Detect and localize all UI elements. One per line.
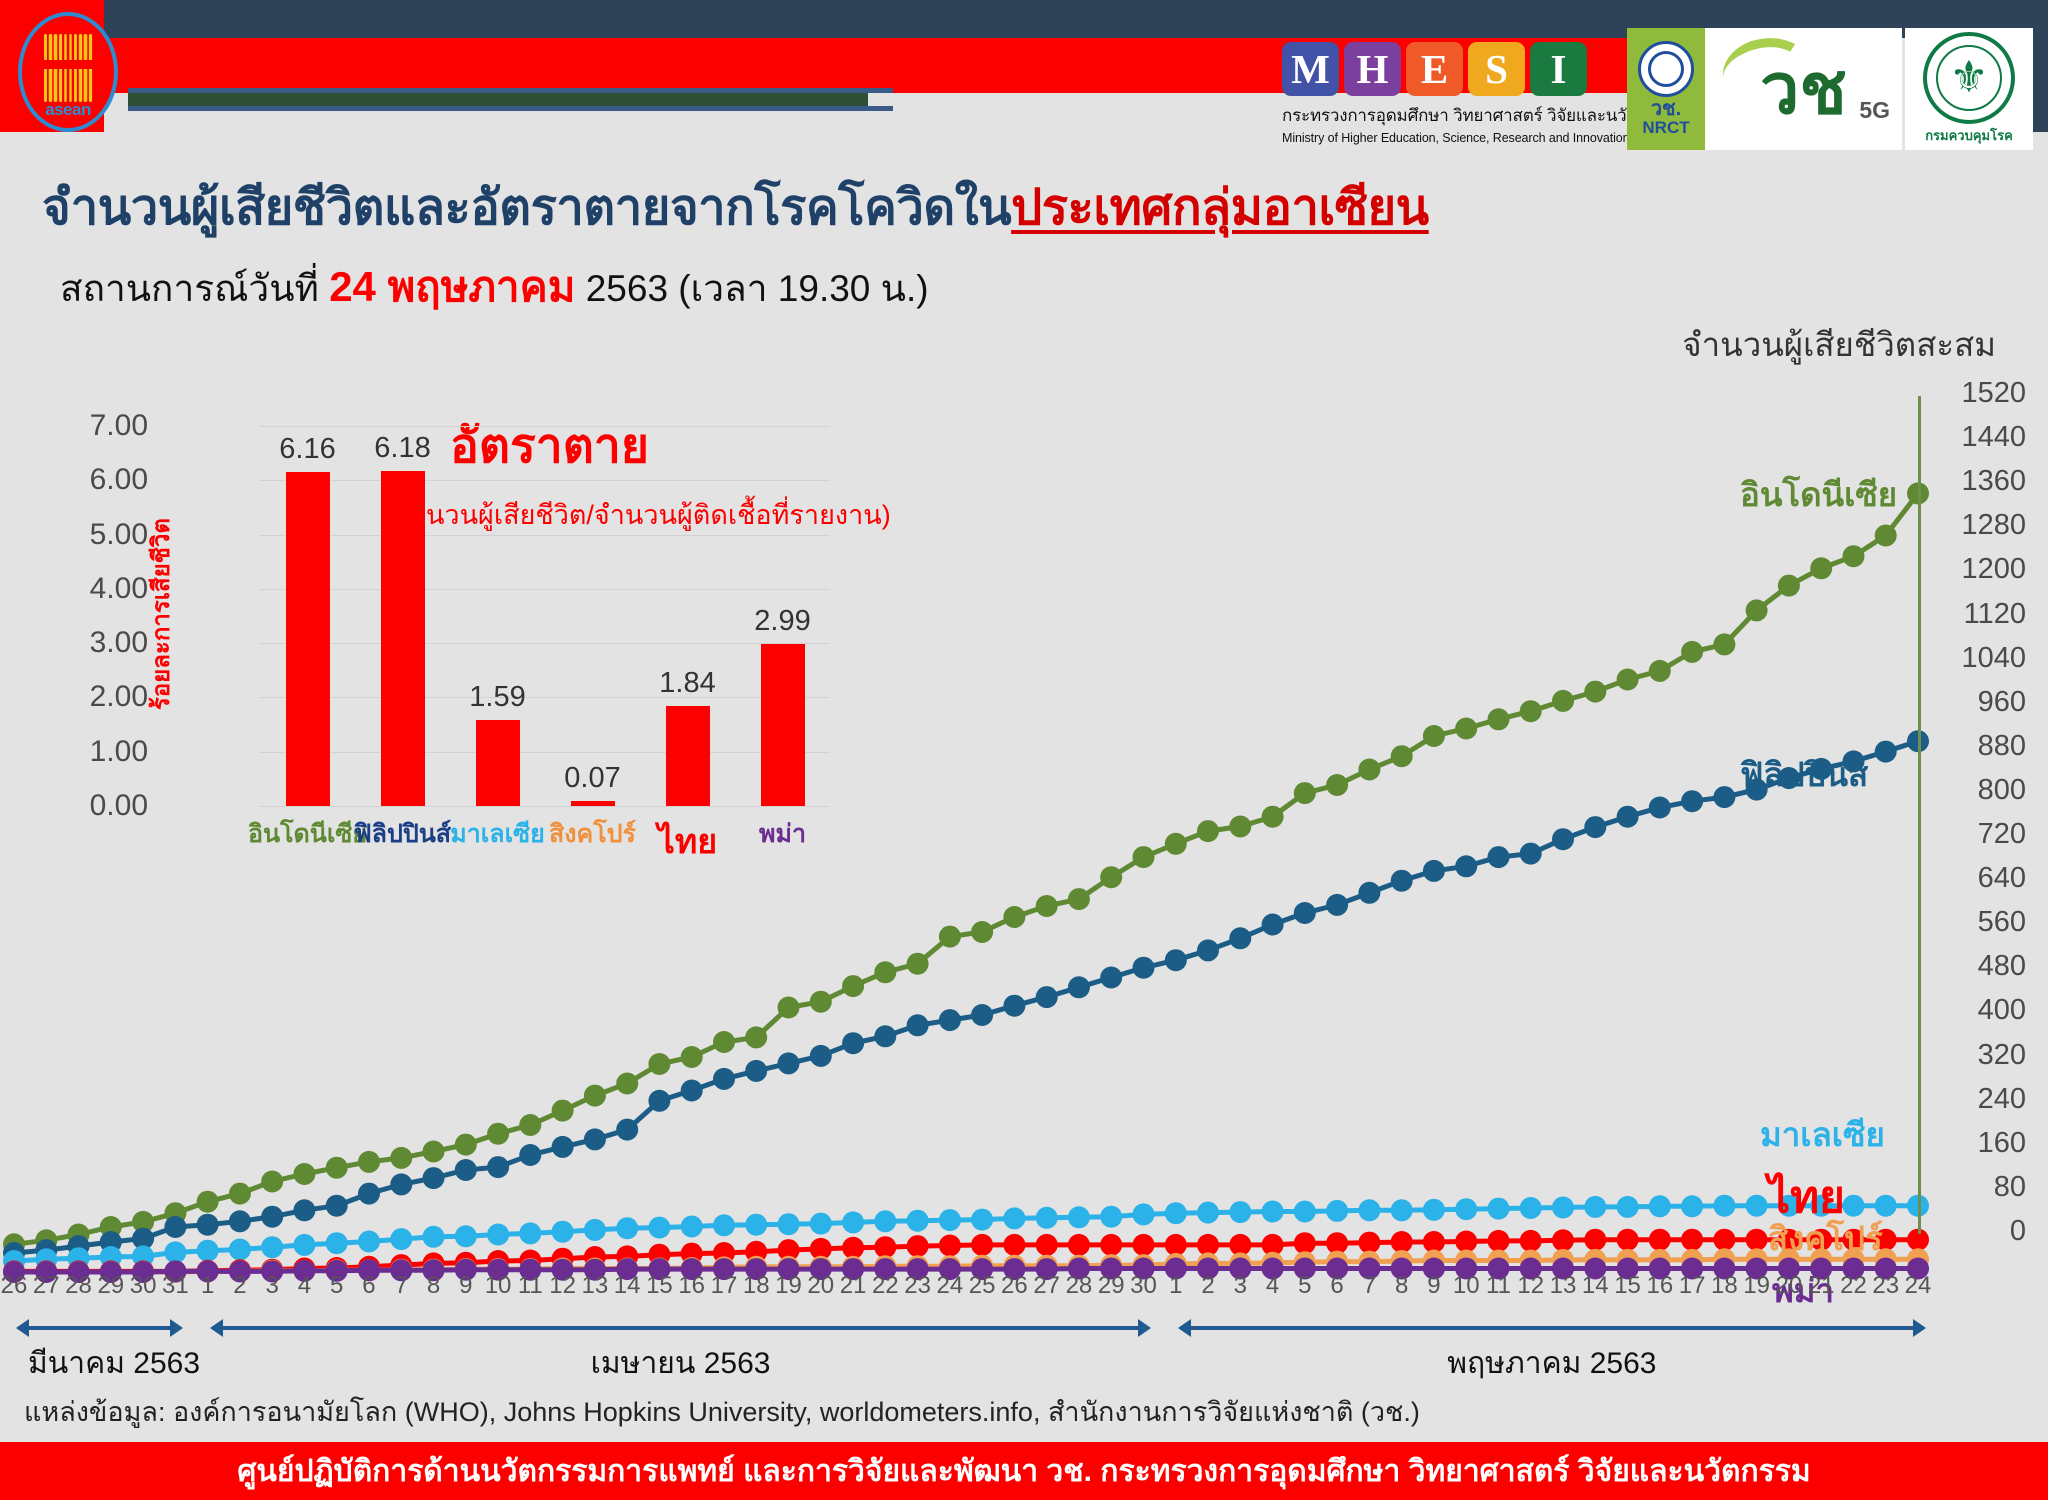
bar-gridline: [260, 426, 830, 427]
data-point: [1003, 906, 1025, 928]
data-point: [1133, 957, 1155, 979]
data-point: [1229, 816, 1251, 838]
y-tick-400: 400: [1978, 994, 2026, 1027]
data-point: [1133, 846, 1155, 868]
data-point: [552, 1136, 574, 1158]
x-tick-55: 20: [1776, 1272, 1803, 1300]
data-point: [1262, 806, 1284, 828]
data-point: [907, 1235, 929, 1257]
bar-column: 1.59: [476, 426, 520, 806]
data-point: [1197, 939, 1219, 961]
data-point: [907, 1014, 929, 1036]
data-point: [197, 1240, 219, 1262]
data-point: [1584, 1196, 1606, 1218]
y-tick-1360: 1360: [1961, 465, 2026, 498]
mhesi-tile-m: M: [1282, 42, 1339, 96]
data-point: [713, 1214, 735, 1236]
data-point: [842, 975, 864, 997]
x-tick-25: 20: [807, 1272, 834, 1300]
moph-thai-label: กรมควบคุมโรค: [1925, 125, 2013, 146]
data-point: [1584, 681, 1606, 703]
x-tick-51: 16: [1646, 1272, 1673, 1300]
data-point: [1003, 1207, 1025, 1229]
bar-plot-area: 6.16อินโดนีเซีย6.18ฟิลิปปินส์1.59มาเลเซี…: [260, 426, 830, 806]
data-point: [1358, 882, 1380, 904]
month-arrow: [1190, 1326, 1914, 1330]
data-point: [1165, 949, 1187, 971]
data-point: [1713, 633, 1735, 655]
data-point: [1391, 1199, 1413, 1221]
x-tick-20: 15: [646, 1272, 673, 1300]
bar-category-อินโดนีเซีย: อินโดนีเซีย: [248, 814, 367, 854]
data-point: [1455, 718, 1477, 740]
y-tick-560: 560: [1978, 906, 2026, 939]
data-point: [1520, 843, 1542, 865]
bar-rect: [286, 472, 330, 806]
data-point: [1488, 846, 1510, 868]
y-tick-1440: 1440: [1961, 421, 2026, 454]
data-point: [1649, 1229, 1671, 1251]
x-tick-54: 19: [1743, 1272, 1770, 1300]
bar-category-ฟิลิปปินส์: ฟิลิปปินส์: [354, 814, 451, 854]
source-line: แหล่งข้อมูล: องค์การอนามัยโลก (WHO), Joh…: [24, 1390, 1420, 1433]
data-point: [1262, 914, 1284, 936]
data-point: [1165, 1234, 1187, 1256]
data-point: [1262, 1201, 1284, 1223]
asean-logo-label: asean: [18, 100, 118, 120]
data-point: [1197, 1202, 1219, 1224]
data-point: [229, 1183, 251, 1205]
data-point: [1100, 1206, 1122, 1228]
x-tick-27: 22: [872, 1272, 899, 1300]
y-tick-720: 720: [1978, 818, 2026, 851]
data-point: [455, 1159, 477, 1181]
data-point: [1810, 557, 1832, 579]
data-point: [778, 1213, 800, 1235]
x-tick-0: 26: [1, 1272, 28, 1300]
bar-rect: [476, 720, 520, 806]
data-point: [1100, 866, 1122, 888]
footer-bar: ศูนย์ปฏิบัติการด้านนวัตกรรมการแพทย์ และก…: [0, 1442, 2048, 1500]
data-point: [874, 1236, 896, 1258]
x-tick-16: 11: [518, 1272, 543, 1300]
x-tick-31: 26: [1001, 1272, 1028, 1300]
data-point: [1875, 525, 1897, 547]
data-point: [584, 1219, 606, 1241]
data-point: [1229, 927, 1251, 949]
bar-y-tick-7.00: 7.00: [90, 409, 148, 443]
data-point: [358, 1231, 380, 1253]
y-tick-800: 800: [1978, 774, 2026, 807]
x-tick-59: 24: [1905, 1272, 1932, 1300]
data-point: [423, 1226, 445, 1248]
data-point: [874, 1025, 896, 1047]
data-point: [681, 1080, 703, 1102]
x-tick-2: 28: [65, 1272, 92, 1300]
x-tick-45: 10: [1453, 1272, 1480, 1300]
nrct-5g-badge: 5G: [1859, 97, 1890, 124]
subtitle-suffix: 2563 (เวลา 19.30 น.): [586, 268, 929, 309]
x-tick-14: 9: [459, 1272, 472, 1300]
data-point: [1552, 1197, 1574, 1219]
data-point: [681, 1216, 703, 1238]
bar-rect: [381, 471, 425, 806]
month-label: เมษายน 2563: [222, 1340, 1140, 1387]
mhesi-letter-tiles: MHESI: [1282, 42, 1612, 96]
data-point: [1326, 774, 1348, 796]
data-point: [1617, 669, 1639, 691]
mhesi-thai-name: กระทรวงการอุดมศึกษา วิทยาศาสตร์ วิจัยและ…: [1282, 102, 1612, 129]
bar-category-มาเลเซีย: มาเลเซีย: [450, 814, 545, 854]
data-point: [907, 1210, 929, 1232]
data-point: [1649, 660, 1671, 682]
data-point: [326, 1195, 348, 1217]
data-point: [1713, 786, 1735, 808]
bar-column: 2.99: [761, 426, 805, 806]
data-point: [1552, 828, 1574, 850]
data-point: [1294, 1232, 1316, 1254]
data-point: [1423, 1199, 1445, 1221]
data-point: [229, 1210, 251, 1232]
data-point: [229, 1239, 251, 1261]
x-tick-32: 27: [1033, 1272, 1060, 1300]
data-point: [326, 1157, 348, 1179]
x-tick-21: 16: [678, 1272, 705, 1300]
data-point: [1133, 1234, 1155, 1256]
bar-y-tick-4.00: 4.00: [90, 572, 148, 606]
data-point: [939, 1009, 961, 1031]
data-point: [390, 1173, 412, 1195]
x-tick-37: 2: [1201, 1272, 1214, 1300]
bar-gridline: [260, 480, 830, 481]
bar-rect: [761, 644, 805, 806]
data-point: [1003, 995, 1025, 1017]
page-title-prefix: จำนวนผู้เสียชีวิตและอัตราตายจากโรคโควิดใ…: [42, 181, 1011, 235]
mhesi-tile-s: S: [1468, 42, 1525, 96]
data-point: [616, 1073, 638, 1095]
subtitle-prefix: สถานการณ์วันที่: [60, 268, 319, 309]
nrct-logo: วช. NRCT วช 5G: [1627, 28, 1902, 150]
data-point: [1133, 1203, 1155, 1225]
data-point: [1713, 1229, 1735, 1251]
x-tick-53: 18: [1711, 1272, 1738, 1300]
x-tick-56: 21: [1808, 1272, 1835, 1300]
month-arrow: [222, 1326, 1140, 1330]
bar-gridline: [260, 589, 830, 590]
data-point: [1649, 797, 1671, 819]
y-tick-320: 320: [1978, 1039, 2026, 1072]
data-point: [261, 1236, 283, 1258]
header-blue-bar-bottom: [128, 106, 893, 111]
data-point: [1294, 1201, 1316, 1223]
month-label: พฤษภาคม 2563: [1190, 1340, 1914, 1387]
dashboard-page: asean MHESI กระทรวงการอุดมศึกษา วิทยาศาส…: [0, 0, 2048, 1500]
x-tick-12: 7: [395, 1272, 408, 1300]
data-point: [1036, 1234, 1058, 1256]
data-point: [487, 1156, 509, 1178]
data-point: [810, 991, 832, 1013]
data-point: [1423, 860, 1445, 882]
data-point: [939, 1235, 961, 1257]
x-tick-47: 12: [1517, 1272, 1544, 1300]
y-tick-1040: 1040: [1961, 642, 2026, 675]
data-point: [326, 1232, 348, 1254]
x-tick-10: 5: [330, 1272, 343, 1300]
x-tick-41: 6: [1330, 1272, 1343, 1300]
asean-band: [38, 60, 98, 69]
x-tick-34: 29: [1098, 1272, 1125, 1300]
data-point: [584, 1128, 606, 1150]
moph-seal-icon: ⚜: [1923, 32, 2015, 124]
data-point: [1875, 741, 1897, 763]
data-point: [197, 1191, 219, 1213]
data-point: [1778, 575, 1800, 597]
data-point: [1391, 745, 1413, 767]
bar-column: 6.16: [286, 426, 330, 806]
data-point: [487, 1224, 509, 1246]
data-point: [519, 1222, 541, 1244]
data-point: [907, 953, 929, 975]
mhesi-tile-e: E: [1406, 42, 1463, 96]
bar-rect: [571, 801, 615, 806]
data-point: [1165, 833, 1187, 855]
data-point: [1681, 641, 1703, 663]
data-point: [745, 1026, 767, 1048]
x-tick-4: 30: [130, 1272, 157, 1300]
data-point: [971, 1234, 993, 1256]
data-point: [1294, 782, 1316, 804]
x-tick-11: 6: [362, 1272, 375, 1300]
data-point: [616, 1119, 638, 1141]
x-tick-8: 3: [265, 1272, 278, 1300]
x-tick-1: 27: [33, 1272, 60, 1300]
data-point: [1100, 1234, 1122, 1256]
x-tick-30: 25: [969, 1272, 996, 1300]
data-point: [810, 1045, 832, 1067]
data-point: [1713, 1195, 1735, 1217]
data-point: [1455, 1198, 1477, 1220]
data-point: [1294, 902, 1316, 924]
bar-category-ไทย: ไทย: [658, 814, 717, 868]
series-label-สิงคโปร์: สิงคโปร์: [1768, 1212, 1883, 1265]
bar-column: 1.84: [666, 426, 710, 806]
asean-logo-icon: asean: [18, 12, 118, 132]
data-point: [1649, 1195, 1671, 1217]
data-point: [842, 1211, 864, 1233]
x-tick-22: 17: [711, 1272, 738, 1300]
y-tick-1520: 1520: [1961, 377, 2026, 410]
data-point: [1068, 976, 1090, 998]
x-tick-15: 10: [485, 1272, 512, 1300]
data-point: [1617, 1196, 1639, 1218]
nrct-emblem: วช 5G: [1705, 28, 1902, 150]
page-title: จำนวนผู้เสียชีวิตและอัตราตายจากโรคโควิดใ…: [42, 168, 1429, 246]
bar-y-tick-5.00: 5.00: [90, 518, 148, 552]
data-point: [1617, 1229, 1639, 1251]
data-point: [519, 1114, 541, 1136]
data-point: [616, 1217, 638, 1239]
data-point: [1681, 1229, 1703, 1251]
data-point: [552, 1100, 574, 1122]
page-subtitle: สถานการณ์วันที่ 24 พฤษภาคม 2563 (เวลา 19…: [60, 254, 929, 320]
data-point: [423, 1141, 445, 1163]
bar-value-label: 6.18: [343, 432, 463, 465]
x-tick-40: 5: [1298, 1272, 1311, 1300]
bar-column: 0.07: [571, 426, 615, 806]
data-point: [1488, 1198, 1510, 1220]
bar-category-สิงคโปร์: สิงคโปร์: [549, 814, 636, 854]
data-point: [1036, 1207, 1058, 1229]
data-point: [1358, 759, 1380, 781]
month-label: มีนาคม 2563: [28, 1340, 171, 1387]
bar-rect: [666, 706, 710, 806]
data-point: [971, 1209, 993, 1231]
header-green-bar: [128, 93, 868, 106]
x-tick-52: 17: [1679, 1272, 1706, 1300]
data-point: [1584, 816, 1606, 838]
bar-value-label: 0.07: [533, 762, 653, 795]
data-point: [1229, 1201, 1251, 1223]
y-tick-160: 160: [1978, 1127, 2026, 1160]
data-point: [1455, 1231, 1477, 1253]
x-tick-33: 28: [1066, 1272, 1093, 1300]
x-axis-tick-labels: 2627282930311234567891011121314151617181…: [0, 1272, 1918, 1308]
mhesi-english-name: Ministry of Higher Education, Science, R…: [1282, 131, 1612, 145]
y-tick-0: 0: [2010, 1215, 2026, 1248]
data-point: [1843, 545, 1865, 567]
data-point: [1746, 599, 1768, 621]
data-point: [390, 1228, 412, 1250]
data-point: [1520, 700, 1542, 722]
data-point: [1358, 1199, 1380, 1221]
series-label-มาเลเซีย: มาเลเซีย: [1760, 1108, 1885, 1161]
data-point: [358, 1151, 380, 1173]
data-point: [455, 1225, 477, 1247]
data-point: [648, 1053, 670, 1075]
data-point: [390, 1147, 412, 1169]
data-point: [1326, 894, 1348, 916]
x-tick-50: 15: [1614, 1272, 1641, 1300]
y-tick-1200: 1200: [1961, 553, 2026, 586]
data-point: [971, 921, 993, 943]
footer-bar-text: ศูนย์ปฏิบัติการด้านนวัตกรรมการแพทย์ และก…: [237, 1448, 1810, 1495]
data-point: [293, 1234, 315, 1256]
data-point: [519, 1144, 541, 1166]
nrct-wheel-icon: [1638, 41, 1694, 97]
mhesi-logo: MHESI กระทรวงการอุดมศึกษา วิทยาศาสตร์ วิ…: [1282, 42, 1612, 134]
data-point: [745, 1214, 767, 1236]
bar-column: 6.18: [381, 426, 425, 806]
data-point: [1488, 1230, 1510, 1252]
x-tick-38: 3: [1234, 1272, 1247, 1300]
data-point: [164, 1216, 186, 1238]
bar-y-tick-3.00: 3.00: [90, 626, 148, 660]
page-title-highlight: ประเทศกลุ่มอาเซียน: [1011, 181, 1429, 235]
mhesi-tile-i: I: [1530, 42, 1587, 96]
x-tick-3: 29: [97, 1272, 124, 1300]
data-point: [874, 1210, 896, 1232]
y-tick-960: 960: [1978, 686, 2026, 719]
data-point: [261, 1171, 283, 1193]
nrct-badge: วช. NRCT: [1627, 28, 1705, 150]
bar-value-label: 1.59: [438, 681, 558, 714]
data-point: [810, 1213, 832, 1235]
bar-gridline: [260, 806, 830, 807]
data-point: [1746, 1195, 1768, 1217]
data-point: [1036, 986, 1058, 1008]
data-point: [1746, 1229, 1768, 1251]
x-tick-35: 30: [1130, 1272, 1157, 1300]
data-point: [1552, 1229, 1574, 1251]
month-band-1: เมษายน 2563: [222, 1318, 1140, 1362]
nrct-abbrev-english: NRCT: [1642, 119, 1689, 138]
y-tick-240: 240: [1978, 1083, 2026, 1116]
subtitle-date: 24 พฤษภาคม: [329, 263, 575, 310]
x-tick-24: 19: [775, 1272, 802, 1300]
month-arrow: [28, 1326, 171, 1330]
data-point: [1358, 1232, 1380, 1254]
data-point: [713, 1031, 735, 1053]
data-point: [648, 1090, 670, 1112]
x-tick-36: 1: [1169, 1272, 1182, 1300]
x-tick-39: 4: [1266, 1272, 1279, 1300]
x-tick-28: 23: [904, 1272, 931, 1300]
x-tick-48: 13: [1550, 1272, 1577, 1300]
y-tick-880: 880: [1978, 730, 2026, 763]
data-point: [971, 1004, 993, 1026]
data-point: [1552, 690, 1574, 712]
x-tick-6: 1: [201, 1272, 214, 1300]
bar-category-พม่า: พม่า: [759, 814, 806, 854]
data-point: [1326, 1200, 1348, 1222]
data-point: [197, 1214, 219, 1236]
mhesi-tile-h: H: [1344, 42, 1401, 96]
month-band-2: พฤษภาคม 2563: [1190, 1318, 1914, 1362]
x-tick-44: 9: [1427, 1272, 1440, 1300]
data-point: [1068, 1234, 1090, 1256]
data-point: [423, 1167, 445, 1189]
data-point: [939, 1209, 961, 1231]
x-tick-5: 31: [162, 1272, 189, 1300]
data-point: [1036, 895, 1058, 917]
data-point: [648, 1217, 670, 1239]
data-point: [455, 1134, 477, 1156]
data-point: [1520, 1230, 1542, 1252]
x-tick-49: 14: [1582, 1272, 1609, 1300]
data-point: [1100, 967, 1122, 989]
bar-value-label: 2.99: [723, 605, 843, 638]
x-tick-18: 13: [582, 1272, 609, 1300]
data-point: [1003, 1234, 1025, 1256]
series-label-ฟิลิปปินส์: ฟิลิปปินส์: [1740, 748, 1868, 801]
x-tick-19: 14: [614, 1272, 641, 1300]
bar-y-tick-6.00: 6.00: [90, 463, 148, 497]
data-point: [1681, 1195, 1703, 1217]
y-tick-1120: 1120: [1964, 598, 2026, 631]
data-point: [745, 1060, 767, 1082]
x-tick-13: 8: [427, 1272, 440, 1300]
data-point: [552, 1221, 574, 1243]
data-point: [1520, 1197, 1542, 1219]
data-point: [293, 1163, 315, 1185]
series-label-อินโดนีเซีย: อินโดนีเซีย: [1740, 468, 1897, 521]
x-tick-57: 22: [1840, 1272, 1867, 1300]
x-tick-9: 4: [298, 1272, 311, 1300]
data-point: [1068, 888, 1090, 910]
y-tick-480: 480: [1978, 950, 2026, 983]
x-tick-17: 12: [549, 1272, 576, 1300]
bar-y-tick-1.00: 1.00: [90, 735, 148, 769]
